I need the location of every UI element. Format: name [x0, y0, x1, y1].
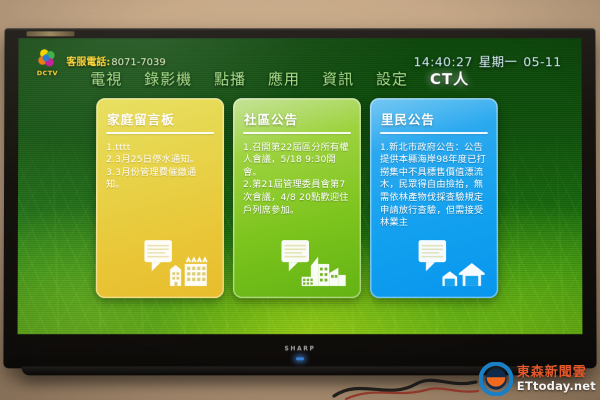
hotline-number: 8071-7039: [111, 57, 165, 68]
card-title: 社區公告: [242, 108, 352, 132]
clock-time: 14:40:27: [413, 54, 472, 69]
card-line: 1.tttt: [106, 142, 214, 155]
nav-item-1[interactable]: 錄影機: [144, 68, 192, 89]
room-photo: DCTV 客服電話: 8071-7039 14:40:27 星期一 05-11 …: [0, 0, 600, 400]
speech-bubble-and-city-icon: [265, 235, 353, 291]
card-neighborhood-announcement[interactable]: 里民公告1.新北市政府公告：公告提供本縣海岸98年度已打撈集中不具標售價值漂流木…: [370, 98, 498, 298]
hotline-label: 客服電話:: [66, 53, 110, 68]
dctv-logo: DCTV: [34, 49, 60, 77]
customer-service-hotline: 客服電話: 8071-7039: [66, 53, 165, 68]
cables-on-shelf: [330, 370, 480, 400]
card-body: 1.新北市政府公告：公告提供本縣海岸98年度已打撈集中不具標售價值漂流木，民眾得…: [379, 142, 489, 230]
card-line: 1.召開第22屆區分所有權人會議，5/18 9:30開會。: [243, 142, 351, 180]
speech-bubble-and-houses-icon: [402, 235, 490, 291]
ettoday-wordmark: 東森新聞雲 ETtoday.net: [517, 366, 596, 392]
tv-brand-label: SHARP: [277, 345, 323, 352]
card-body: 1.tttt2.3月25日停水通知。3.3月份管理費催繳通知。: [105, 142, 215, 192]
card-body: 1.召開第22屆區分所有權人會議，5/18 9:30開會。2.第21屆管理委員會…: [242, 142, 352, 218]
nav-item-4[interactable]: 資訊: [322, 68, 354, 89]
tv-screen: DCTV 客服電話: 8071-7039 14:40:27 星期一 05-11 …: [18, 38, 583, 334]
main-navigation-menu[interactable]: 電視錄影機點播應用資訊設定CT人: [90, 68, 469, 89]
announcement-card-row: 家庭留言板1.tttt2.3月25日停水通知。3.3月份管理費催繳通知。社區公告…: [18, 98, 583, 298]
card-line: 3.3月份管理費催繳通知。: [106, 167, 214, 192]
television-set: DCTV 客服電話: 8071-7039 14:40:27 星期一 05-11 …: [3, 28, 596, 368]
card-title-divider: [106, 132, 214, 134]
card-community-announcement[interactable]: 社區公告1.召開第22屆區分所有權人會議，5/18 9:30開會。2.第21屆管…: [233, 98, 361, 298]
dctv-wordmark: DCTV: [34, 69, 60, 77]
card-title-divider: [243, 132, 351, 134]
card-family-message-board[interactable]: 家庭留言板1.tttt2.3月25日停水通知。3.3月份管理費催繳通知。: [96, 98, 224, 298]
dctv-flower-icon: [36, 49, 57, 68]
card-line: 2.3月25日停水通知。: [106, 154, 214, 167]
speech-bubble-and-buildings-icon: [128, 235, 216, 291]
tv-bezel-sticker: [27, 31, 75, 36]
card-title-divider: [380, 132, 488, 134]
card-line: 2.第21屆管理委員會第7次會議，4/8 20點歡迎住戶列席參加。: [243, 179, 351, 217]
nav-item-3[interactable]: 應用: [268, 68, 300, 89]
nav-item-6[interactable]: CT人: [430, 68, 469, 89]
card-title: 里民公告: [379, 108, 489, 132]
clock-date: 05-11: [523, 54, 561, 69]
nav-item-5[interactable]: 設定: [376, 68, 408, 89]
watermark-chinese: 東森新聞雲: [517, 366, 596, 380]
card-title: 家庭留言板: [105, 108, 215, 132]
ettoday-watermark: 東森新聞雲 ETtoday.net: [479, 362, 596, 396]
nav-item-0[interactable]: 電視: [90, 68, 122, 89]
nav-item-2[interactable]: 點播: [214, 68, 246, 89]
ettoday-logo-icon: [479, 362, 513, 396]
watermark-english: ETtoday.net: [517, 380, 596, 392]
tv-power-led: [296, 357, 304, 360]
card-line: 1.新北市政府公告：公告提供本縣海岸98年度已打撈集中不具標售價值漂流木，民眾得…: [380, 142, 488, 230]
clock-weekday: 星期一: [479, 51, 518, 70]
